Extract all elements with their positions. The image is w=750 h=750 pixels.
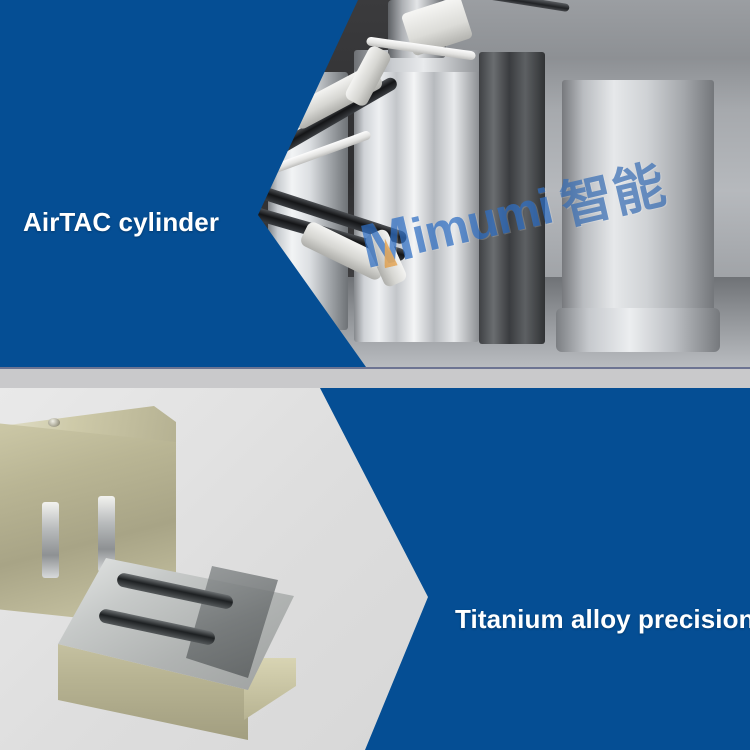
top-panel: AirTAC cylinder M imumi 智能 (0, 0, 750, 367)
cylinder-body-right (562, 80, 714, 330)
die-screw-hole (48, 418, 60, 427)
bottom-panel-caption: Titanium alloy precision die (455, 604, 750, 635)
promo-banner: AirTAC cylinder M imumi 智能 M (0, 0, 750, 750)
cylinder-base-cap (556, 308, 720, 352)
titanium-die-block-lower (58, 558, 308, 750)
bottom-panel: M imumi 智能 (0, 388, 750, 750)
top-panel-caption: AirTAC cylinder (23, 207, 219, 238)
panel-separator (0, 367, 750, 388)
cylinder-body-dark (479, 52, 545, 344)
die-cavity-slot-1 (42, 502, 59, 578)
separator-hairline (0, 367, 750, 369)
